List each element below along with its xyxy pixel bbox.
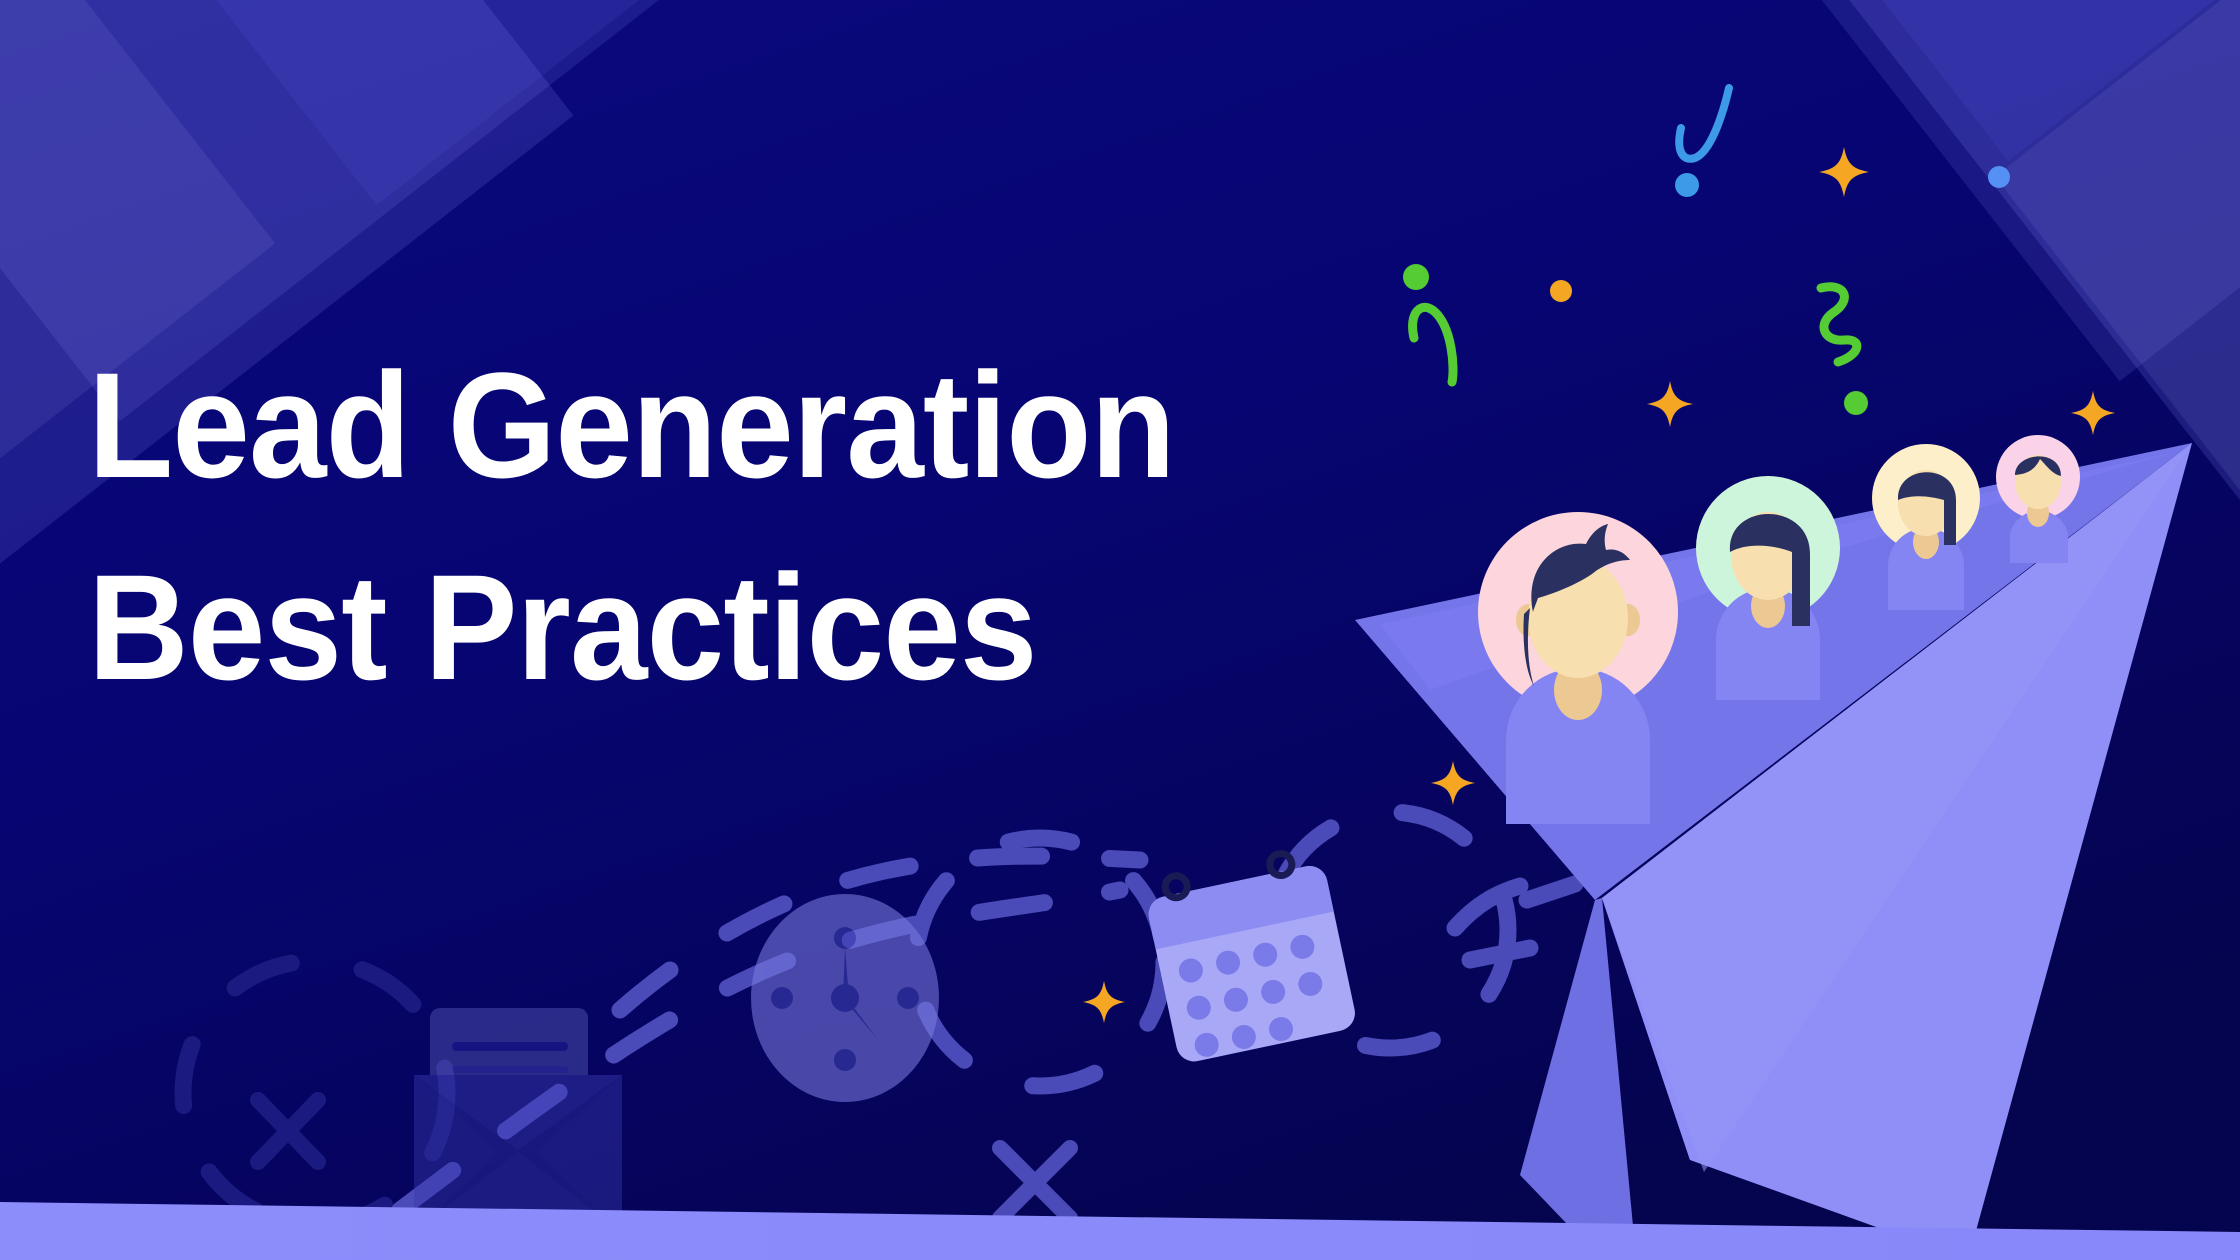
page-title: Lead Generation Best Practices — [88, 338, 1608, 714]
title-line-2: Best Practices — [88, 540, 1502, 714]
title-line-1: Lead Generation — [88, 338, 1502, 512]
banner-canvas: Lead Generation Best Practices — [0, 0, 2240, 1260]
